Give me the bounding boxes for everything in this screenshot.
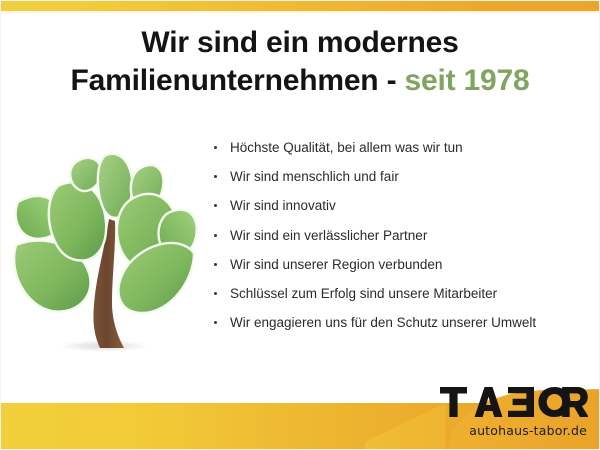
list-item: Wir sind ein verlässlicher Partner xyxy=(210,228,590,244)
tree-icon xyxy=(8,145,198,360)
logo-domain-text[interactable]: autohaus-tabor.de xyxy=(469,423,587,438)
list-item: Wir sind unserer Region verbunden xyxy=(210,257,590,273)
promo-slide: Wir sind ein modernes Familienunternehme… xyxy=(0,0,600,450)
list-item: Wir engagieren uns für den Schutz unsere… xyxy=(210,315,590,331)
tabor-wordmark[interactable] xyxy=(440,387,588,417)
list-item-label: Wir sind innovativ xyxy=(230,198,336,213)
headline-line-2-main: Familienunternehmen - xyxy=(71,64,405,97)
bullet-dot-icon xyxy=(214,204,217,207)
top-bar-fade xyxy=(0,11,600,15)
list-item: Wir sind menschlich und fair xyxy=(210,169,590,185)
headline-accent-since: seit 1978 xyxy=(405,64,530,97)
list-item-label: Wir sind ein verlässlicher Partner xyxy=(230,228,427,243)
list-item: Schlüssel zum Erfolg sind unsere Mitarbe… xyxy=(210,286,590,302)
list-item: Höchste Qualität, bei allem was wir tun xyxy=(210,140,590,156)
list-item-label: Höchste Qualität, bei allem was wir tun xyxy=(230,140,463,155)
top-gold-bar xyxy=(0,0,600,11)
headline-line-1: Wir sind ein modernes xyxy=(22,24,578,62)
list-item: Wir sind innovativ xyxy=(210,198,590,214)
bullet-dot-icon xyxy=(214,263,217,266)
bullet-dot-icon xyxy=(214,146,217,149)
bullet-dot-icon xyxy=(214,234,217,237)
list-item-label: Wir sind menschlich und fair xyxy=(230,169,399,184)
headline-line-2: Familienunternehmen - seit 1978 xyxy=(22,62,578,100)
bullet-dot-icon xyxy=(214,292,217,295)
list-item-label: Schlüssel zum Erfolg sind unsere Mitarbe… xyxy=(230,286,497,301)
list-item-label: Wir sind unserer Region verbunden xyxy=(230,257,442,272)
bullet-dot-icon xyxy=(214,321,217,324)
page-title: Wir sind ein modernes Familienunternehme… xyxy=(22,24,578,101)
list-item-label: Wir engagieren uns für den Schutz unsere… xyxy=(230,315,536,330)
benefits-list: Höchste Qualität, bei allem was wir tun … xyxy=(210,140,590,331)
bullet-dot-icon xyxy=(214,175,217,178)
